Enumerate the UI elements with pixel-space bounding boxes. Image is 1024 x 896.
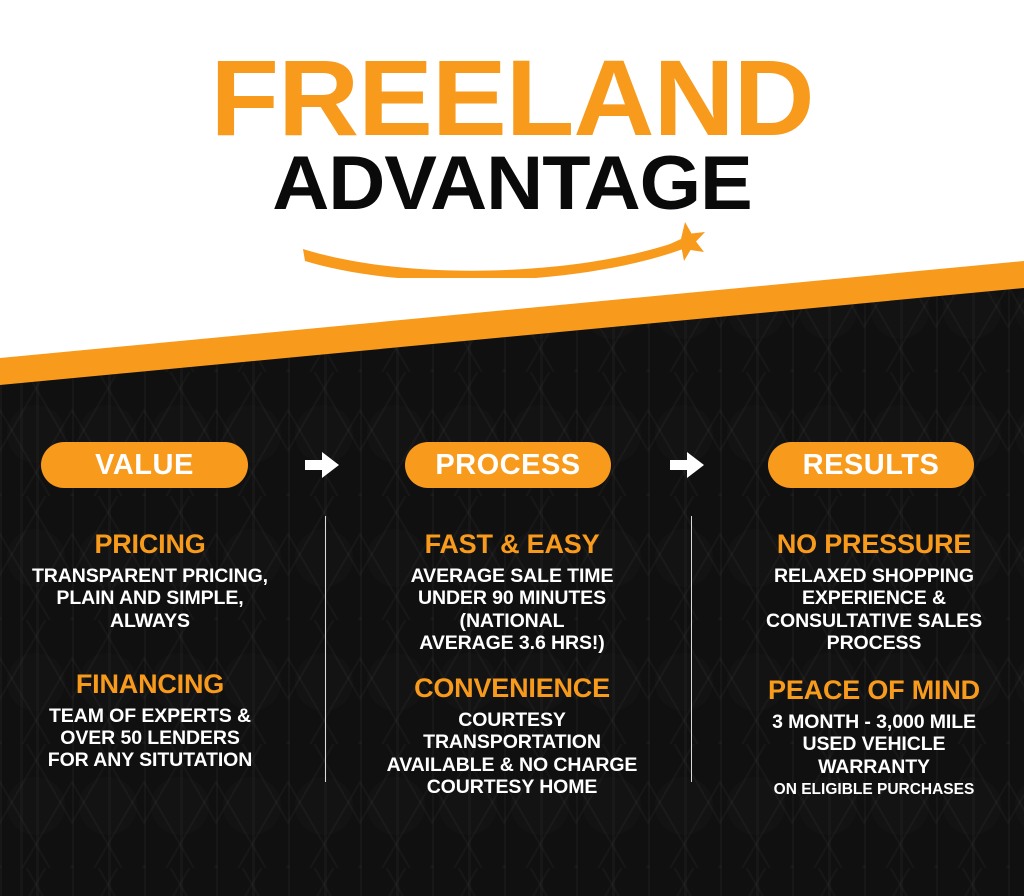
column-divider [325, 516, 326, 782]
feature-body: TEAM OF EXPERTS & OVER 50 LENDERS FOR AN… [0, 705, 300, 772]
feature-body-line: TRANSPARENT PRICING, [0, 565, 300, 587]
feature-body-line: USED VEHICLE [724, 733, 1024, 755]
feature-body-line: RELAXED SHOPPING [724, 565, 1024, 587]
feature-title: PRICING [0, 530, 300, 559]
feature-body: COURTESY TRANSPORTATION AVAILABLE & NO C… [362, 709, 662, 798]
column-divider [691, 516, 692, 782]
feature-body: 3 MONTH - 3,000 MILE USED VEHICLE WARRAN… [724, 711, 1024, 778]
feature-body-line: AVERAGE 3.6 HRS!) [362, 632, 662, 654]
content: VALUE PROCESS RESULTS PRICING TRANSPAREN… [0, 0, 1024, 896]
feature-body-line: COURTESY HOME [362, 776, 662, 798]
feature-body-line: UNDER 90 MINUTES [362, 587, 662, 609]
column-value: PRICING TRANSPARENT PRICING, PLAIN AND S… [0, 530, 300, 772]
feature-body-line: AVAILABLE & NO CHARGE [362, 754, 662, 776]
feature-block-convenience: CONVENIENCE COURTESY TRANSPORTATION AVAI… [362, 674, 662, 798]
feature-body-line: TRANSPORTATION [362, 731, 662, 753]
feature-block-peace-of-mind: PEACE OF MIND 3 MONTH - 3,000 MILE USED … [724, 676, 1024, 799]
feature-body-line: CONSULTATIVE SALES [724, 610, 1024, 632]
feature-body-line: OVER 50 LENDERS [0, 727, 300, 749]
infographic-page: FREELAND ADVANTAGE VALUE PROCESS RESULTS… [0, 0, 1024, 896]
feature-block-fast-and-easy: FAST & EASY AVERAGE SALE TIME UNDER 90 M… [362, 530, 662, 654]
feature-body-line: PLAIN AND SIMPLE, [0, 587, 300, 609]
column-results: NO PRESSURE RELAXED SHOPPING EXPERIENCE … [724, 530, 1024, 799]
feature-body-line: COURTESY [362, 709, 662, 731]
feature-block-pricing: PRICING TRANSPARENT PRICING, PLAIN AND S… [0, 530, 300, 632]
feature-body-line: FOR ANY SITUTATION [0, 749, 300, 771]
feature-body: RELAXED SHOPPING EXPERIENCE & CONSULTATI… [724, 565, 1024, 654]
feature-footnote: ON ELIGIBLE PURCHASES [724, 781, 1024, 799]
feature-body-line: 3 MONTH - 3,000 MILE [724, 711, 1024, 733]
feature-body: AVERAGE SALE TIME UNDER 90 MINUTES (NATI… [362, 565, 662, 654]
feature-title: FAST & EASY [362, 530, 662, 559]
feature-title: PEACE OF MIND [724, 676, 1024, 705]
feature-body-line: WARRANTY [724, 756, 1024, 778]
feature-title: FINANCING [0, 670, 300, 699]
feature-body-line: PROCESS [724, 632, 1024, 654]
feature-block-no-pressure: NO PRESSURE RELAXED SHOPPING EXPERIENCE … [724, 530, 1024, 654]
step-pill-results[interactable]: RESULTS [768, 442, 974, 488]
step-pill-process[interactable]: PROCESS [405, 442, 611, 488]
feature-body-line: EXPERIENCE & [724, 587, 1024, 609]
feature-title: NO PRESSURE [724, 530, 1024, 559]
feature-title: CONVENIENCE [362, 674, 662, 703]
arrow-right-icon [670, 450, 704, 480]
feature-body-line: ALWAYS [0, 610, 300, 632]
step-pill-row: VALUE PROCESS RESULTS [0, 442, 1024, 492]
feature-body-line: AVERAGE SALE TIME [362, 565, 662, 587]
arrow-right-icon [305, 450, 339, 480]
column-process: FAST & EASY AVERAGE SALE TIME UNDER 90 M… [362, 530, 662, 798]
feature-block-financing: FINANCING TEAM OF EXPERTS & OVER 50 LEND… [0, 670, 300, 772]
feature-body-line: TEAM OF EXPERTS & [0, 705, 300, 727]
feature-body-line: (NATIONAL [362, 610, 662, 632]
step-pill-value[interactable]: VALUE [41, 442, 248, 488]
feature-body: TRANSPARENT PRICING, PLAIN AND SIMPLE, A… [0, 565, 300, 632]
